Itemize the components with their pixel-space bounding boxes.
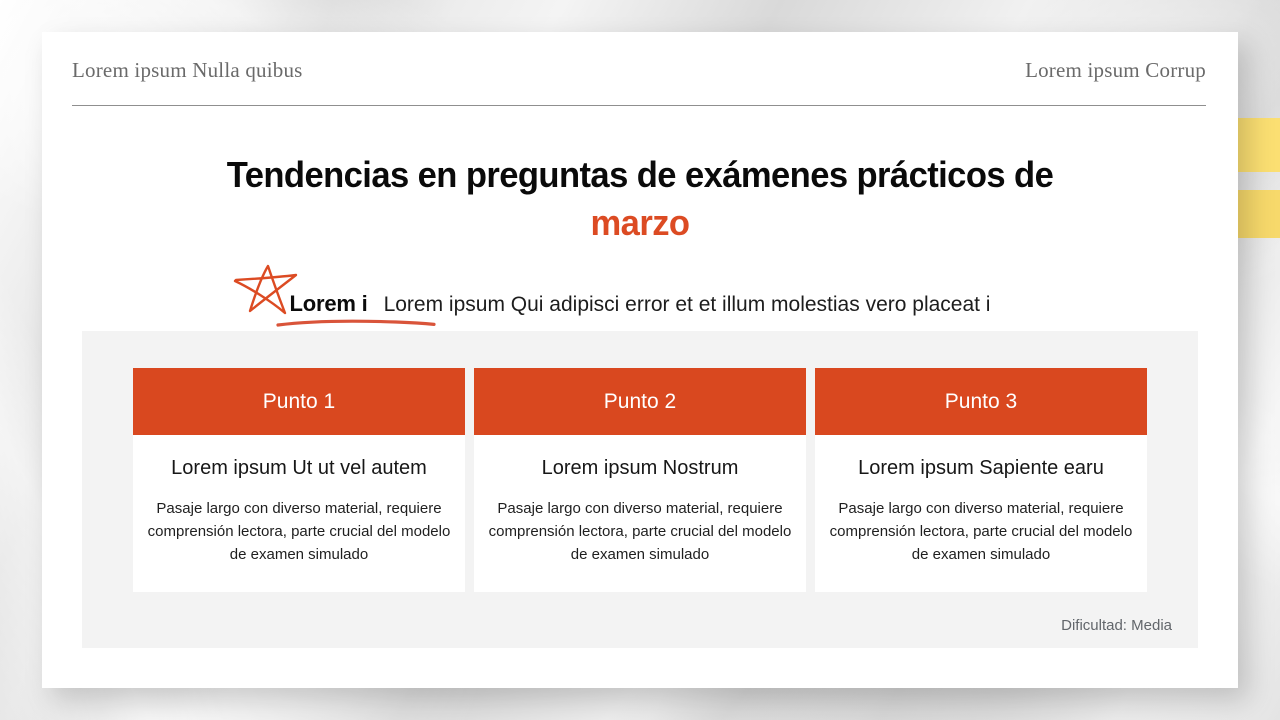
card-1-title: Lorem ipsum Ut ut vel autem bbox=[147, 457, 451, 480]
card-2-description: Pasaje largo con diverso material, requi… bbox=[488, 498, 792, 566]
content-panel: Punto 1 Lorem ipsum Ut ut vel autem Pasa… bbox=[82, 331, 1198, 648]
card-1-description: Pasaje largo con diverso material, requi… bbox=[147, 498, 451, 566]
underline-doodle-icon bbox=[276, 318, 436, 328]
subtitle-text: Lorem ipsum Qui adipisci error et et ill… bbox=[384, 293, 991, 317]
card-3-title: Lorem ipsum Sapiente earu bbox=[829, 457, 1133, 480]
page-title-accent: marzo bbox=[162, 200, 1118, 246]
yellow-tab-top[interactable] bbox=[1236, 118, 1280, 172]
card-2[interactable]: Punto 2 Lorem ipsum Nostrum Pasaje largo… bbox=[474, 368, 806, 592]
highlight-badge-label: Lorem i bbox=[290, 291, 368, 316]
difficulty-label: Dificultad: Media bbox=[1061, 617, 1172, 634]
card-1-body: Lorem ipsum Ut ut vel autem Pasaje largo… bbox=[133, 435, 465, 592]
slide-canvas: Lorem ipsum Nulla quibus Lorem ipsum Cor… bbox=[42, 32, 1238, 688]
running-header-right: Lorem ipsum Corrup bbox=[1025, 58, 1206, 83]
yellow-tab-bottom[interactable] bbox=[1236, 190, 1280, 238]
page-title: Tendencias en preguntas de exámenes prác… bbox=[162, 152, 1118, 246]
highlight-badge: Lorem i bbox=[290, 291, 368, 317]
running-header-left: Lorem ipsum Nulla quibus bbox=[72, 58, 303, 83]
running-header: Lorem ipsum Nulla quibus Lorem ipsum Cor… bbox=[72, 58, 1206, 106]
card-grid: Punto 1 Lorem ipsum Ut ut vel autem Pasa… bbox=[133, 368, 1147, 592]
card-2-header: Punto 2 bbox=[474, 368, 806, 435]
page-title-main: Tendencias en preguntas de exámenes prác… bbox=[227, 154, 1053, 195]
card-3-header: Punto 3 bbox=[815, 368, 1147, 435]
card-1-header: Punto 1 bbox=[133, 368, 465, 435]
card-1[interactable]: Punto 1 Lorem ipsum Ut ut vel autem Pasa… bbox=[133, 368, 465, 592]
card-3-body: Lorem ipsum Sapiente earu Pasaje largo c… bbox=[815, 435, 1147, 592]
card-2-title: Lorem ipsum Nostrum bbox=[488, 457, 792, 480]
card-3-description: Pasaje largo con diverso material, requi… bbox=[829, 498, 1133, 566]
card-2-body: Lorem ipsum Nostrum Pasaje largo con div… bbox=[474, 435, 806, 592]
card-3[interactable]: Punto 3 Lorem ipsum Sapiente earu Pasaje… bbox=[815, 368, 1147, 592]
subtitle-row: Lorem i Lorem ipsum Qui adipisci error e… bbox=[42, 291, 1238, 317]
